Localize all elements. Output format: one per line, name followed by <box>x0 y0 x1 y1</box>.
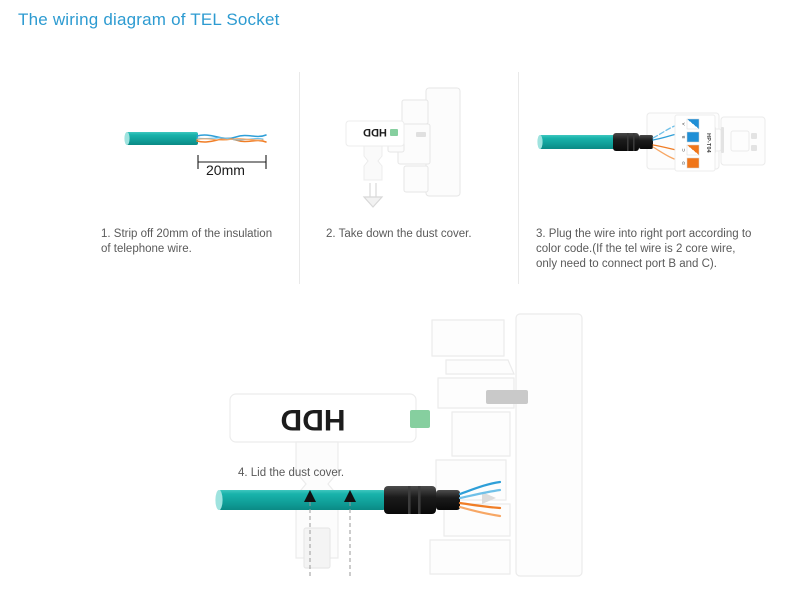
port-swatch-a <box>687 119 699 129</box>
port-swatch-b <box>687 132 699 142</box>
port-color-legend: A B C D HP-T04 <box>675 115 715 171</box>
down-arrow <box>364 183 382 207</box>
twisted-wire-pairs <box>197 135 266 142</box>
cable-connector-boot-large <box>384 486 460 514</box>
port-letter-c: C <box>681 148 686 151</box>
dust-cover-plate: HDD <box>346 121 404 146</box>
column-divider-2 <box>518 72 519 284</box>
step-4-caption: 4. Lid the dust cover. <box>238 466 458 481</box>
step3-figure: A B C D HP-T04 <box>535 105 775 195</box>
step-2-caption: 2. Take down the dust cover. <box>326 227 516 242</box>
page-title: The wiring diagram of TEL Socket <box>18 10 280 30</box>
port-swatch-c <box>687 145 699 155</box>
step-3-caption: 3. Plug the wire into right port accordi… <box>536 227 771 272</box>
faceplate-label-large: HDD <box>281 403 346 436</box>
housing-accent <box>416 132 426 137</box>
led-indicator-large <box>410 410 430 428</box>
port-swatch-d <box>687 158 699 168</box>
step-1-caption: 1. Strip off 20mm of the insulation of t… <box>101 227 291 257</box>
step2-figure: HDD <box>330 80 480 215</box>
step4-figure: HDD <box>200 300 620 590</box>
model-label: HP-T04 <box>705 133 711 153</box>
cable-jacket <box>539 135 615 149</box>
socket-assembly-outline <box>430 314 582 576</box>
wiring-diagram-page: The wiring diagram of TEL Socket <box>0 0 800 600</box>
housing-accent-bar <box>486 390 528 404</box>
port-letter-b: B <box>681 135 686 138</box>
port-letter-d: D <box>681 161 686 164</box>
led-indicator <box>390 129 398 136</box>
cable-end-cap <box>124 132 129 145</box>
faceplate-label: HDD <box>363 126 387 138</box>
cable-end-cap-large <box>215 490 222 510</box>
step1-figure <box>100 110 300 200</box>
dust-cover-stem <box>364 146 382 180</box>
cable-jacket-large <box>218 490 386 510</box>
dimension-label: 20mm <box>206 162 245 178</box>
cable-end-cap <box>537 135 542 149</box>
cable-jacket <box>126 132 198 145</box>
cable-connector-boot <box>613 133 653 151</box>
port-letter-a: A <box>681 122 686 125</box>
dust-cover-plate-large: HDD <box>230 394 430 442</box>
